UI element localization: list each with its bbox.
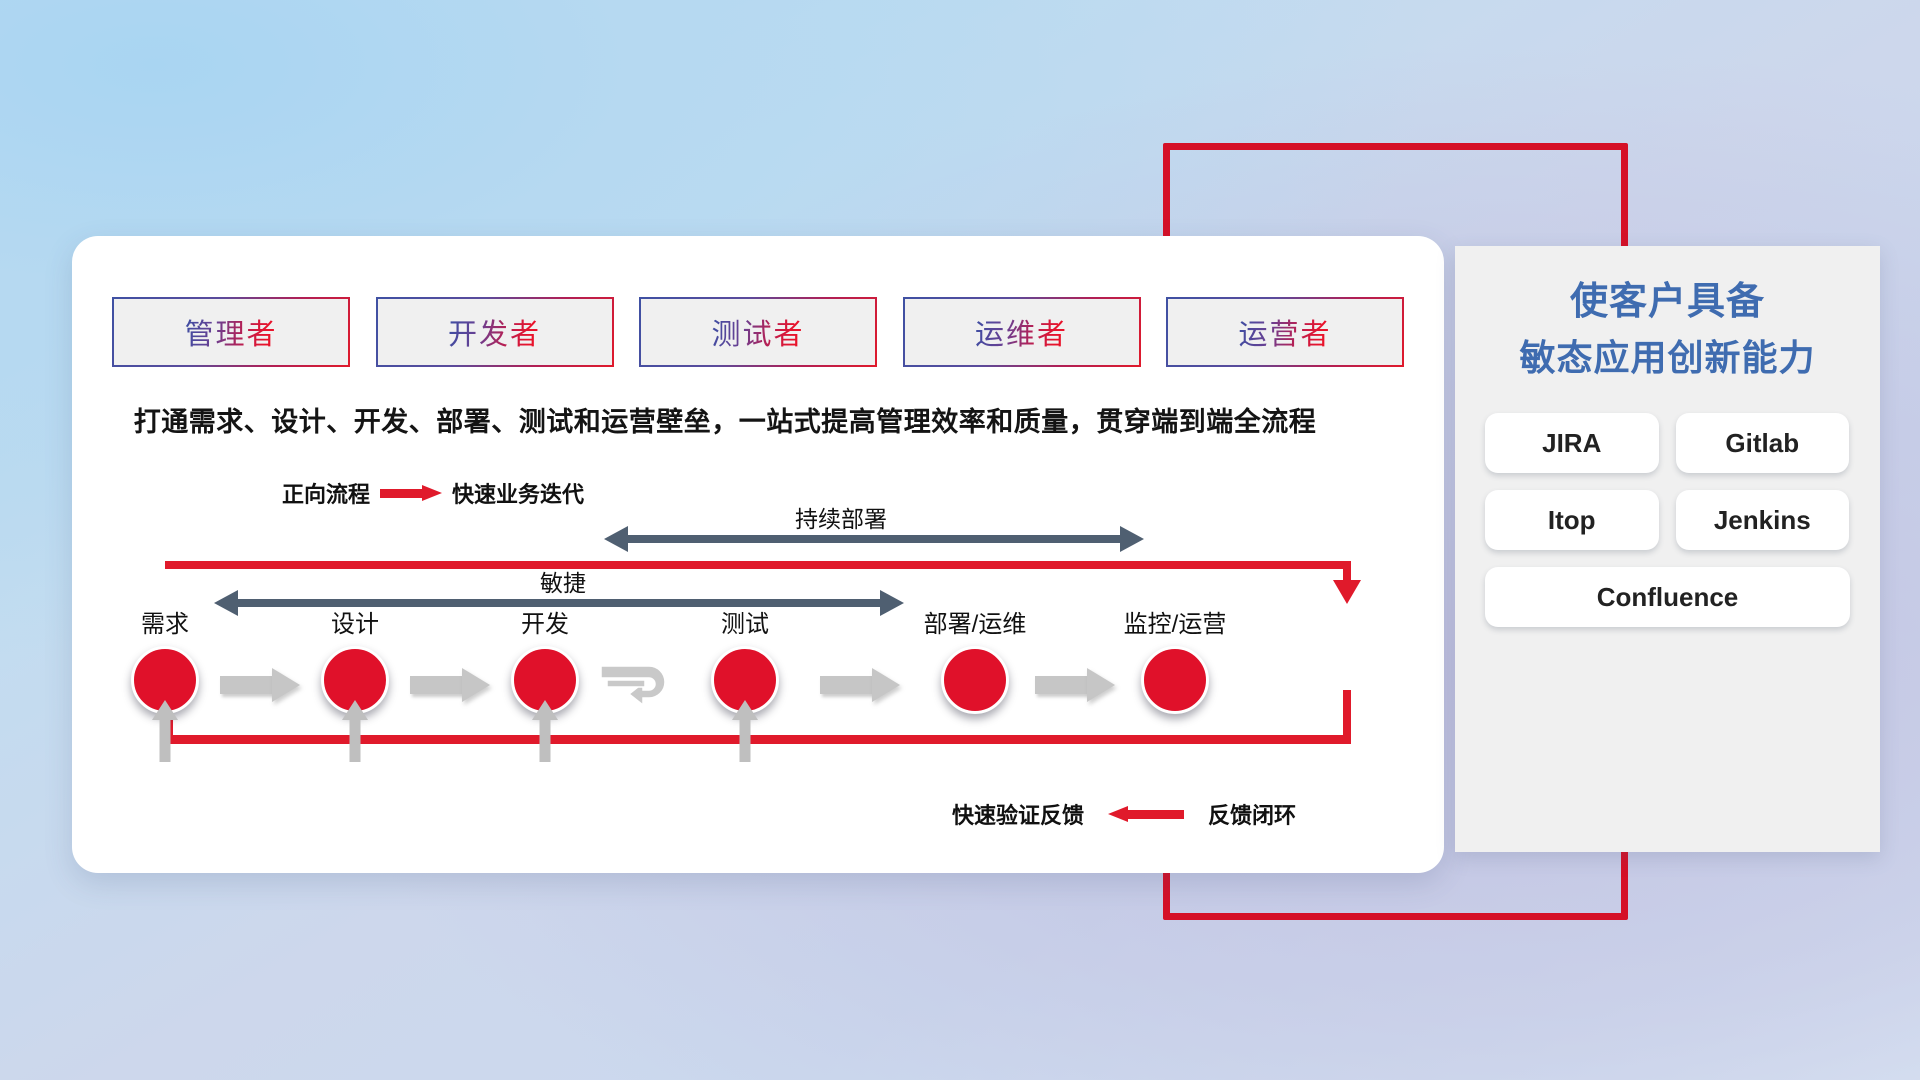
pipeline-node-circle-icon: [1141, 646, 1209, 714]
iteration-loop-icon: [597, 660, 693, 720]
slide-canvas: 管理者开发者测试者运维者运营者 打通需求、设计、开发、部署、测试和运营壁垒，一站…: [0, 0, 1920, 1080]
feedback-loop-top-line: [165, 561, 1351, 569]
tool-pill-confluence[interactable]: Confluence: [1485, 567, 1850, 627]
role-box-5[interactable]: 运营者: [1166, 297, 1404, 367]
tools-panel: 使客户具备 敏态应用创新能力 JIRAGitlabItopJenkinsConf…: [1455, 246, 1880, 852]
feedback-loop-down-arrowhead-icon: [1333, 580, 1361, 604]
tools-list: JIRAGitlabItopJenkinsConfluence: [1485, 413, 1850, 627]
arrow-left-red-icon: [1108, 806, 1184, 822]
legend-forward-right-label: 快速业务迭代: [452, 477, 584, 509]
pipeline-connector-arrow-icon: [1035, 668, 1115, 702]
role-box-label: 开发者: [448, 311, 541, 353]
role-box-1[interactable]: 管理者: [112, 297, 350, 367]
tool-pill-jenkins[interactable]: Jenkins: [1676, 490, 1850, 550]
role-box-2[interactable]: 开发者: [376, 297, 614, 367]
tools-panel-title-line1: 使客户具备: [1485, 274, 1850, 331]
pipeline-row: 需求设计开发测试部署/运维监控/运营: [112, 612, 1412, 742]
role-box-label: 测试者: [711, 311, 804, 353]
pipeline-node-label: 开发: [521, 604, 569, 639]
tool-pill-gitlab[interactable]: Gitlab: [1676, 413, 1850, 473]
tool-pill-itop[interactable]: Itop: [1485, 490, 1659, 550]
pipeline-node-5[interactable]: 部署/运维: [941, 646, 1009, 714]
legend-feedback-loop: 快速验证反馈 反馈闭环: [952, 798, 1296, 830]
arrow-right-red-icon: [380, 485, 442, 501]
pipeline-node-label: 测试: [721, 604, 769, 639]
pipeline-node-label: 设计: [331, 604, 379, 639]
role-box-label: 运营者: [1238, 311, 1331, 353]
pipeline-stem-arrowhead-icon: [152, 700, 178, 720]
pipeline-stem-arrowhead-icon: [732, 700, 758, 720]
tools-panel-title: 使客户具备 敏态应用创新能力: [1485, 274, 1850, 385]
pipeline-node-circle-icon: [941, 646, 1009, 714]
pipeline-node-stem: [350, 714, 361, 762]
legend-feedback-right-label: 反馈闭环: [1208, 798, 1296, 830]
legend-feedback-left-label: 快速验证反馈: [952, 798, 1084, 830]
pipeline-connector-arrow-icon: [220, 668, 300, 702]
pipeline-connector-arrow-icon: [820, 668, 900, 702]
legend-forward-left-label: 正向流程: [282, 477, 370, 509]
role-box-label: 管理者: [184, 311, 277, 353]
pipeline-node-label: 需求: [141, 604, 189, 639]
pipeline-stem-arrowhead-icon: [342, 700, 368, 720]
role-box-row: 管理者开发者测试者运维者运营者: [112, 297, 1404, 367]
tools-panel-title-line2: 敏态应用创新能力: [1485, 331, 1850, 385]
role-box-label: 运维者: [975, 311, 1068, 353]
pipeline-node-label: 部署/运维: [924, 604, 1027, 639]
legend-forward-flow: 正向流程 快速业务迭代: [282, 477, 584, 509]
tool-pill-jira[interactable]: JIRA: [1485, 413, 1659, 473]
role-box-4[interactable]: 运维者: [903, 297, 1141, 367]
role-box-3[interactable]: 测试者: [639, 297, 877, 367]
pipeline-node-label: 监控/运营: [1124, 604, 1227, 639]
pipeline-connector-arrow-icon: [410, 668, 490, 702]
pipeline-node-stem: [160, 714, 171, 762]
double-arrow-continuous-deployment-icon: [604, 526, 1144, 552]
pipeline-node-stem: [740, 714, 751, 762]
pipeline-stem-arrowhead-icon: [532, 700, 558, 720]
pipeline-node-stem: [540, 714, 551, 762]
pipeline-node-6[interactable]: 监控/运营: [1141, 646, 1209, 714]
